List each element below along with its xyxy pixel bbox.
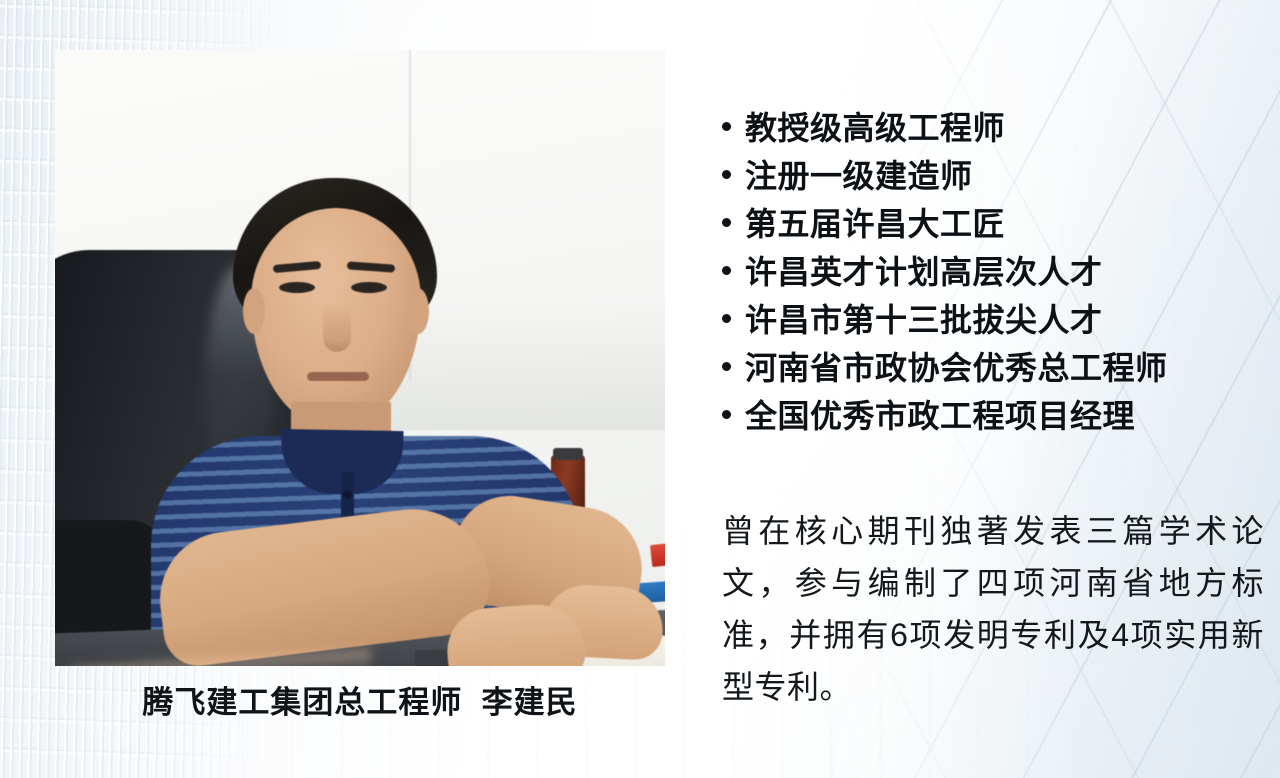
credential-label: 许昌英才计划高层次人才 [745,248,1103,296]
list-item: 注册一级建造师 [722,152,1262,200]
credential-label: 第五届许昌大工匠 [745,200,1005,248]
credentials-panel: 教授级高级工程师 注册一级建造师 第五届许昌大工匠 许昌英才计划高层次人才 许昌… [722,104,1262,440]
person-eye-right [351,282,387,293]
list-item: 教授级高级工程师 [722,104,1262,152]
bullet-dot-icon [722,314,731,323]
credentials-list: 教授级高级工程师 注册一级建造师 第五届许昌大工匠 许昌英才计划高层次人才 许昌… [722,104,1262,440]
bullet-dot-icon [722,266,731,275]
list-item: 第五届许昌大工匠 [722,200,1262,248]
list-item: 河南省市政协会优秀总工程师 [722,344,1262,392]
list-item: 全国优秀市政工程项目经理 [722,392,1262,440]
person-ear-left [243,288,265,334]
summary-paragraph: 曾在核心期刊独著发表三篇学术论文，参与编制了四项河南省地方标准，并拥有6项发明专… [722,505,1264,713]
person-ear-right [407,288,429,334]
profile-slide: 腾飞建工集团总工程师 李建民 教授级高级工程师 注册一级建造师 第五届许昌大工匠… [0,0,1280,778]
list-item: 许昌英才计划高层次人才 [722,248,1262,296]
credential-label: 许昌市第十三批拔尖人才 [745,296,1103,344]
credential-label: 注册一级建造师 [745,152,973,200]
credential-label: 全国优秀市政工程项目经理 [745,392,1135,440]
bullet-dot-icon [722,170,731,179]
bullet-dot-icon [722,122,731,131]
portrait-photo [55,50,665,666]
credential-label: 河南省市政协会优秀总工程师 [745,344,1168,392]
desk-thermos-cap [553,448,583,460]
list-item: 许昌市第十三批拔尖人才 [722,296,1262,344]
person-eye-left [279,282,315,293]
bullet-dot-icon [722,410,731,419]
bullet-dot-icon [722,218,731,227]
credential-label: 教授级高级工程师 [745,104,1005,152]
bullet-dot-icon [722,362,731,371]
person-nose [323,302,351,352]
person-mouth [307,372,369,381]
person-shirt-button-top [343,490,352,499]
photo-caption: 腾飞建工集团总工程师 李建民 [55,684,665,721]
